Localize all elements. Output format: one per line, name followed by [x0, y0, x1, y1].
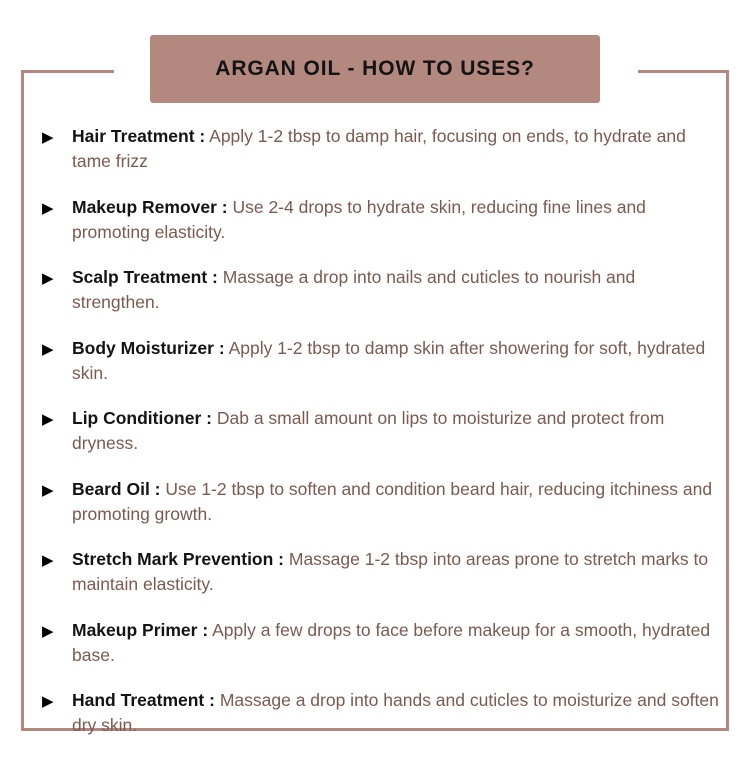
- frame-left-segment: [21, 70, 24, 731]
- arrow-bullet-icon: ▶: [42, 195, 72, 221]
- page-title: ARGAN OIL - HOW TO USES?: [215, 57, 535, 81]
- arrow-bullet-icon: ▶: [42, 406, 72, 432]
- list-item-label: Beard Oil :: [72, 479, 161, 499]
- list-item: ▶ Body Moisturizer : Apply 1-2 tbsp to d…: [42, 336, 722, 386]
- frame-right-segment: [726, 70, 729, 731]
- arrow-bullet-icon: ▶: [42, 265, 72, 291]
- list-item-label: Stretch Mark Prevention :: [72, 549, 284, 569]
- list-item-text: Scalp Treatment : Massage a drop into na…: [72, 265, 722, 315]
- list-item-label: Lip Conditioner :: [72, 408, 212, 428]
- list-item-text: Makeup Remover : Use 2-4 drops to hydrat…: [72, 195, 722, 245]
- list-item: ▶ Hair Treatment : Apply 1-2 tbsp to dam…: [42, 124, 722, 174]
- arrow-bullet-icon: ▶: [42, 547, 72, 573]
- list-item-text: Beard Oil : Use 1-2 tbsp to soften and c…: [72, 477, 722, 527]
- list-item-description: Use 1-2 tbsp to soften and condition bea…: [72, 479, 712, 524]
- list-item-label: Hand Treatment :: [72, 690, 215, 710]
- list-item-text: Body Moisturizer : Apply 1-2 tbsp to dam…: [72, 336, 722, 386]
- frame-top-left-segment: [21, 70, 114, 73]
- list-item: ▶ Stretch Mark Prevention : Massage 1-2 …: [42, 547, 722, 597]
- list-item-text: Lip Conditioner : Dab a small amount on …: [72, 406, 722, 456]
- arrow-bullet-icon: ▶: [42, 618, 72, 644]
- list-item: ▶ Beard Oil : Use 1-2 tbsp to soften and…: [42, 477, 722, 527]
- list-item: ▶ Makeup Remover : Use 2-4 drops to hydr…: [42, 195, 722, 245]
- arrow-bullet-icon: ▶: [42, 124, 72, 150]
- list-item-text: Stretch Mark Prevention : Massage 1-2 tb…: [72, 547, 722, 597]
- list-item-label: Scalp Treatment :: [72, 267, 218, 287]
- list-item-text: Makeup Primer : Apply a few drops to fac…: [72, 618, 722, 668]
- frame-top-right-segment: [638, 70, 729, 73]
- arrow-bullet-icon: ▶: [42, 336, 72, 362]
- list-item-text: Hand Treatment : Massage a drop into han…: [72, 688, 722, 738]
- infographic-poster: ARGAN OIL - HOW TO USES? ▶ Hair Treatmen…: [0, 0, 750, 750]
- list-item: ▶ Lip Conditioner : Dab a small amount o…: [42, 406, 722, 456]
- list-item-label: Hair Treatment :: [72, 126, 205, 146]
- list-item: ▶ Hand Treatment : Massage a drop into h…: [42, 688, 722, 738]
- list-item-label: Makeup Primer :: [72, 620, 208, 640]
- arrow-bullet-icon: ▶: [42, 477, 72, 503]
- usage-list: ▶ Hair Treatment : Apply 1-2 tbsp to dam…: [42, 124, 722, 759]
- list-item: ▶ Scalp Treatment : Massage a drop into …: [42, 265, 722, 315]
- list-item-label: Makeup Remover :: [72, 197, 228, 217]
- list-item-text: Hair Treatment : Apply 1-2 tbsp to damp …: [72, 124, 722, 174]
- arrow-bullet-icon: ▶: [42, 688, 72, 714]
- title-banner: ARGAN OIL - HOW TO USES?: [150, 35, 600, 103]
- list-item: ▶ Makeup Primer : Apply a few drops to f…: [42, 618, 722, 668]
- list-item-label: Body Moisturizer :: [72, 338, 225, 358]
